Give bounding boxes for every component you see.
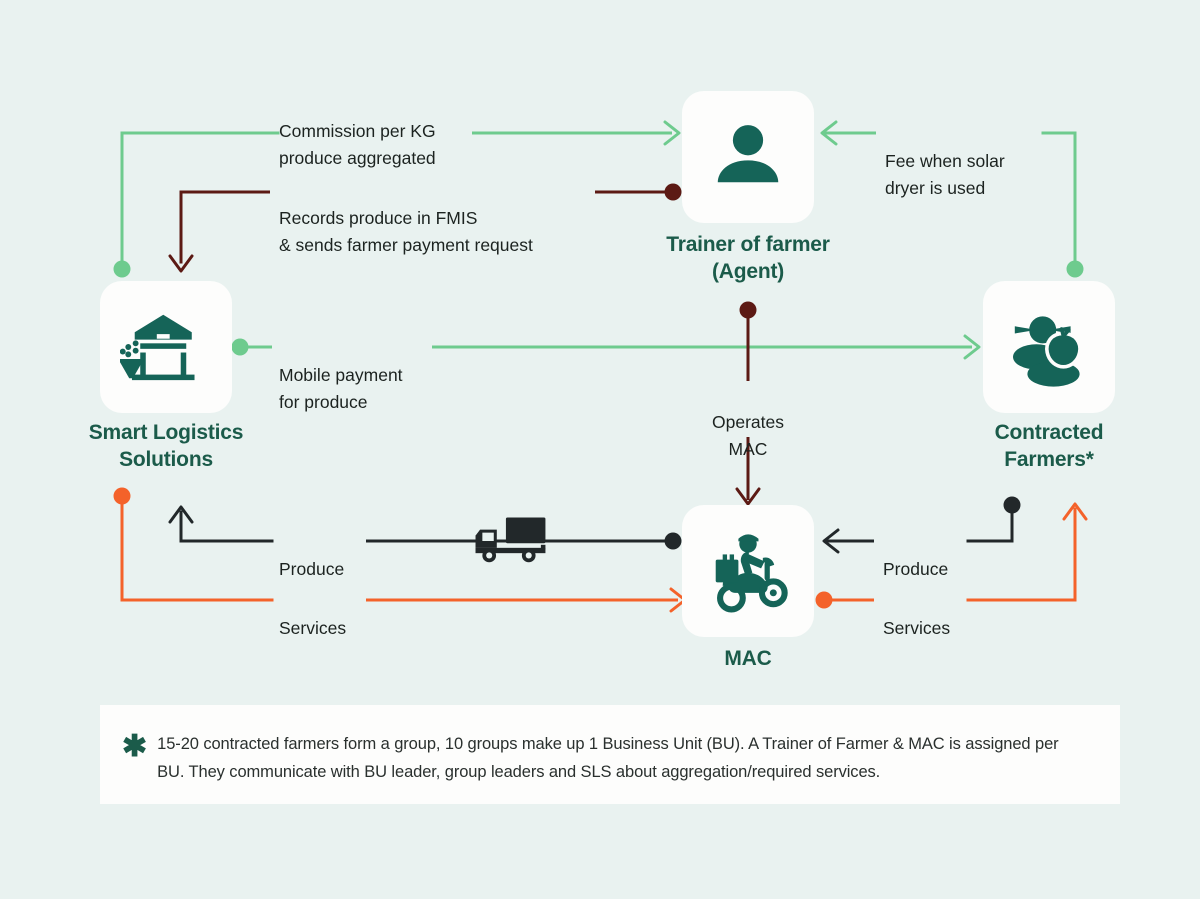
edge-endpoint-dot <box>816 592 833 609</box>
edge-endpoint-dot <box>114 261 131 278</box>
edge-endpoint-dot <box>1004 497 1021 514</box>
market-stall-icon <box>120 301 212 393</box>
diagram-canvas: Smart Logistics Solutions Trainer of far… <box>0 0 1200 899</box>
edge-endpoint-dot <box>665 184 682 201</box>
farmers-produce-icon <box>1004 302 1094 392</box>
edge-endpoint-dot <box>665 533 682 550</box>
node-smart-logistics-solutions[interactable] <box>100 281 232 413</box>
node-label-smart-logistics-solutions: Smart Logistics Solutions <box>26 420 306 474</box>
edge-label-produce-left: Produce <box>279 528 379 583</box>
person-icon <box>706 115 790 199</box>
edge-produce-left <box>170 507 682 550</box>
delivery-scooter-icon <box>700 523 796 619</box>
edge-endpoint-dot <box>740 302 757 319</box>
edge-label-services-left: Services <box>279 587 379 642</box>
node-label-trainer-of-farmer: Trainer of farmer (Agent) <box>608 232 888 286</box>
edge-label-operates-mac: Operates MAC <box>688 381 808 464</box>
node-contracted-farmers[interactable] <box>983 281 1115 413</box>
delivery-truck-icon <box>474 514 550 568</box>
edge-label-fee-solar: Fee when solar dryer is used <box>885 120 1085 203</box>
node-label-contracted-farmers: Contracted Farmers* <box>909 420 1189 474</box>
footnote-text: 15-20 contracted farmers form a group, 1… <box>157 730 1090 787</box>
edge-services-left <box>114 488 686 612</box>
edge-endpoint-dot <box>1067 261 1084 278</box>
edge-label-records-fmis: Records produce in FMIS & sends farmer p… <box>279 177 609 260</box>
edge-label-mobile-payment: Mobile payment for produce <box>279 334 459 417</box>
edge-endpoint-dot <box>114 488 131 505</box>
node-mac[interactable] <box>682 505 814 637</box>
edge-endpoint-dot <box>232 339 249 356</box>
node-trainer-of-farmer[interactable] <box>682 91 814 223</box>
footnote-panel: ✱ 15-20 contracted farmers form a group,… <box>100 705 1120 804</box>
asterisk-icon: ✱ <box>122 732 147 762</box>
edge-label-services-right: Services <box>883 587 983 642</box>
edge-label-commission: Commission per KG produce aggregated <box>279 90 499 173</box>
edge-label-produce-right: Produce <box>883 528 983 583</box>
node-label-mac: MAC <box>658 646 838 673</box>
